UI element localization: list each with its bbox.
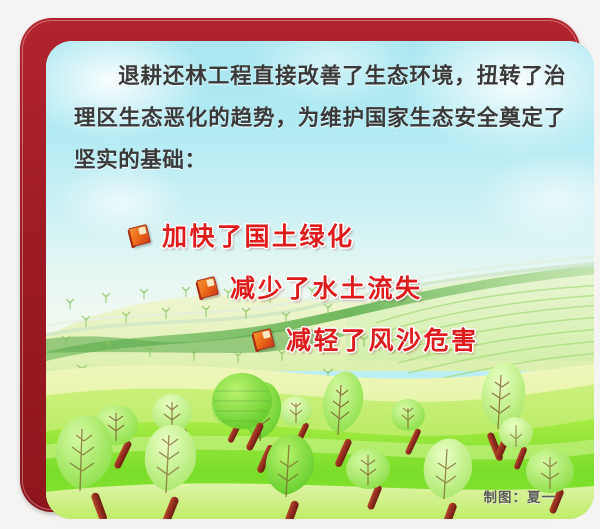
page-paragraph: 退耕还林工程直接改善了生态环境，扭转了治理区生态恶化的趋势，为维护国家生态安全奠… bbox=[74, 55, 566, 181]
list-item: 减轻了风沙危害 bbox=[46, 313, 594, 365]
poster-artwork-canvas: 退耕还林工程直接改善了生态环境，扭转了治理区生态恶化的趋势，为维护国家生态安全奠… bbox=[46, 41, 594, 519]
bullet-label: 加快了国土绿化 bbox=[162, 217, 355, 253]
bullet-list: 加快了国土绿化 减少了水土流失 减轻了风沙危害 bbox=[46, 209, 594, 365]
orange-book-bullet-icon bbox=[128, 223, 151, 246]
poster-red-frame: 退耕还林工程直接改善了生态环境，扭转了治理区生态恶化的趋势，为维护国家生态安全奠… bbox=[20, 18, 580, 512]
credit-line: 制图：夏一 bbox=[484, 486, 557, 506]
list-item: 减少了水土流失 bbox=[46, 261, 594, 313]
bullet-label: 减少了水土流失 bbox=[230, 269, 423, 305]
list-item: 加快了国土绿化 bbox=[46, 209, 594, 261]
orange-book-bullet-icon bbox=[196, 275, 219, 298]
bullet-label: 减轻了风沙危害 bbox=[286, 321, 479, 357]
orange-book-bullet-icon bbox=[252, 327, 275, 350]
poster-root: 退耕还林工程直接改善了生态环境，扭转了治理区生态恶化的趋势，为维护国家生态安全奠… bbox=[0, 0, 600, 529]
